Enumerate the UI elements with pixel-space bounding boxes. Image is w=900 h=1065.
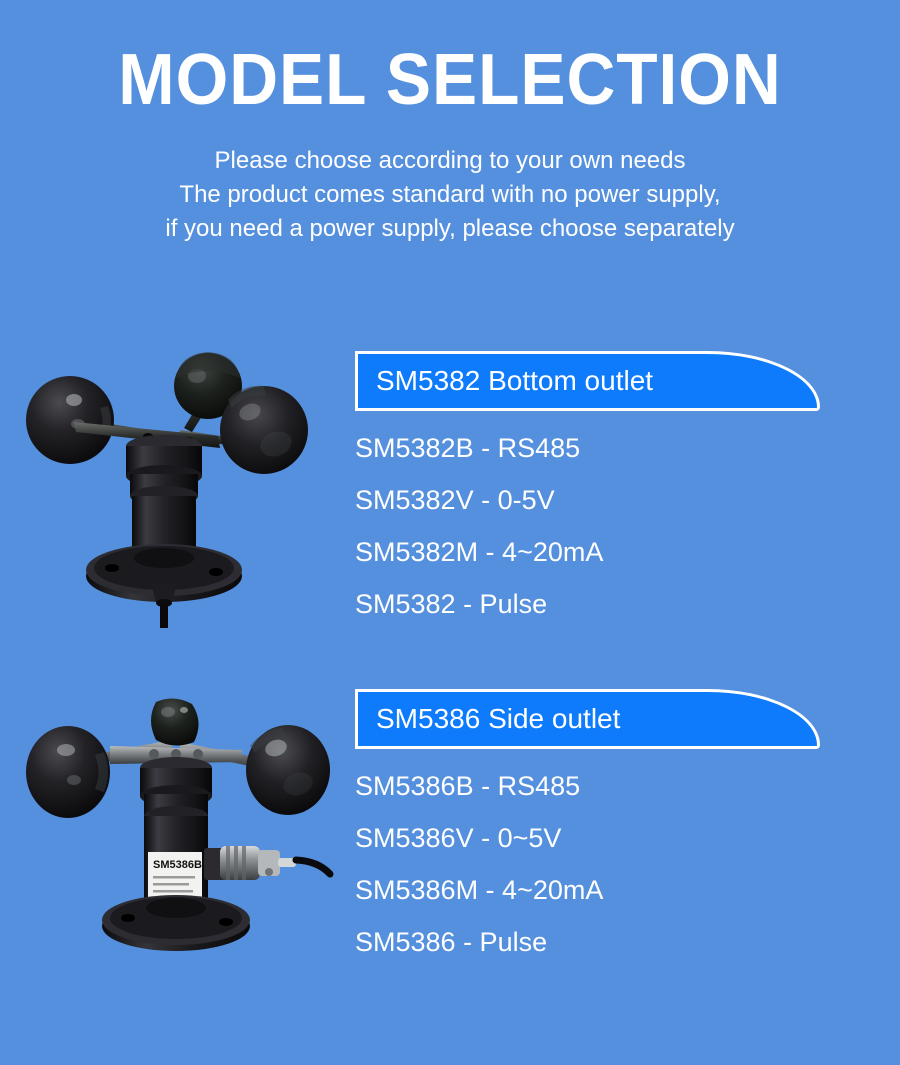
model-list-item[interactable]: SM5382 - Pulse — [355, 578, 900, 630]
product-banner-sm5386[interactable]: SM5386 Side outlet — [355, 689, 820, 749]
model-list-item[interactable]: SM5386B - RS485 — [355, 760, 900, 812]
product-info-sm5382: SM5382 Bottom outlet SM5382B - RS485 SM5… — [355, 330, 900, 630]
cup-left — [26, 726, 110, 818]
side-cable-connector — [204, 846, 330, 880]
model-selection-page: MODEL SELECTION Please choose according … — [0, 0, 900, 1065]
product-banner-sm5382[interactable]: SM5382 Bottom outlet — [355, 351, 820, 411]
cup-left — [26, 376, 114, 464]
mounting-flange — [102, 895, 250, 951]
product-banner-label: SM5382 Bottom outlet — [358, 367, 653, 395]
subtitle-line-3: if you need a power supply, please choos… — [0, 212, 900, 246]
product-banner-label: SM5386 Side outlet — [358, 705, 620, 733]
model-list-item[interactable]: SM5382M - 4~20mA — [355, 526, 900, 578]
page-subtitle: Please choose according to your own need… — [0, 116, 900, 246]
model-list-item[interactable]: SM5382B - RS485 — [355, 422, 900, 474]
cup-right — [246, 725, 330, 815]
cup-top — [151, 698, 199, 745]
model-list-sm5386: SM5386B - RS485 SM5386V - 0~5V SM5386M -… — [355, 749, 900, 968]
subtitle-line-2: The product comes standard with no power… — [0, 178, 900, 212]
product-photo-side-outlet: SM5386B — [0, 668, 350, 968]
anemometer-side-outlet-icon: SM5386B — [14, 696, 334, 976]
bottom-cable-outlet — [151, 584, 177, 628]
subtitle-line-1: Please choose according to your own need… — [0, 144, 900, 178]
product-info-sm5386: SM5386 Side outlet SM5386B - RS485 SM538… — [355, 668, 900, 968]
model-list-item[interactable]: SM5382V - 0-5V — [355, 474, 900, 526]
page-header: MODEL SELECTION Please choose according … — [0, 0, 900, 246]
model-list-sm5382: SM5382B - RS485 SM5382V - 0-5V SM5382M -… — [355, 411, 900, 630]
model-list-item[interactable]: SM5386 - Pulse — [355, 916, 900, 968]
product-label-text: SM5386B — [153, 859, 202, 871]
cup-right — [220, 386, 308, 474]
product-photo-bottom-outlet — [0, 330, 350, 630]
model-list-item[interactable]: SM5386M - 4~20mA — [355, 864, 900, 916]
model-list-item[interactable]: SM5386V - 0~5V — [355, 812, 900, 864]
page-title: MODEL SELECTION — [27, 0, 873, 116]
anemometer-bottom-outlet-icon — [12, 348, 332, 633]
